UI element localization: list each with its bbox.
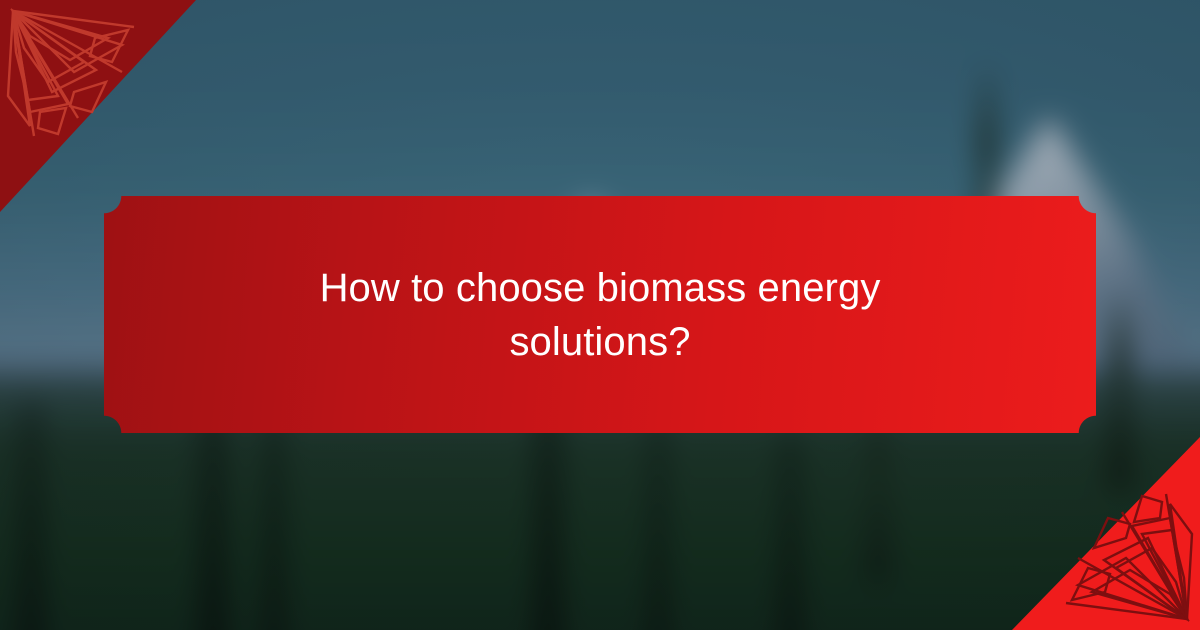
share-card: How to choose biomass energy solutions? [0, 0, 1200, 630]
title-banner: How to choose biomass energy solutions? [104, 196, 1096, 433]
page-title: How to choose biomass energy solutions? [280, 261, 920, 369]
